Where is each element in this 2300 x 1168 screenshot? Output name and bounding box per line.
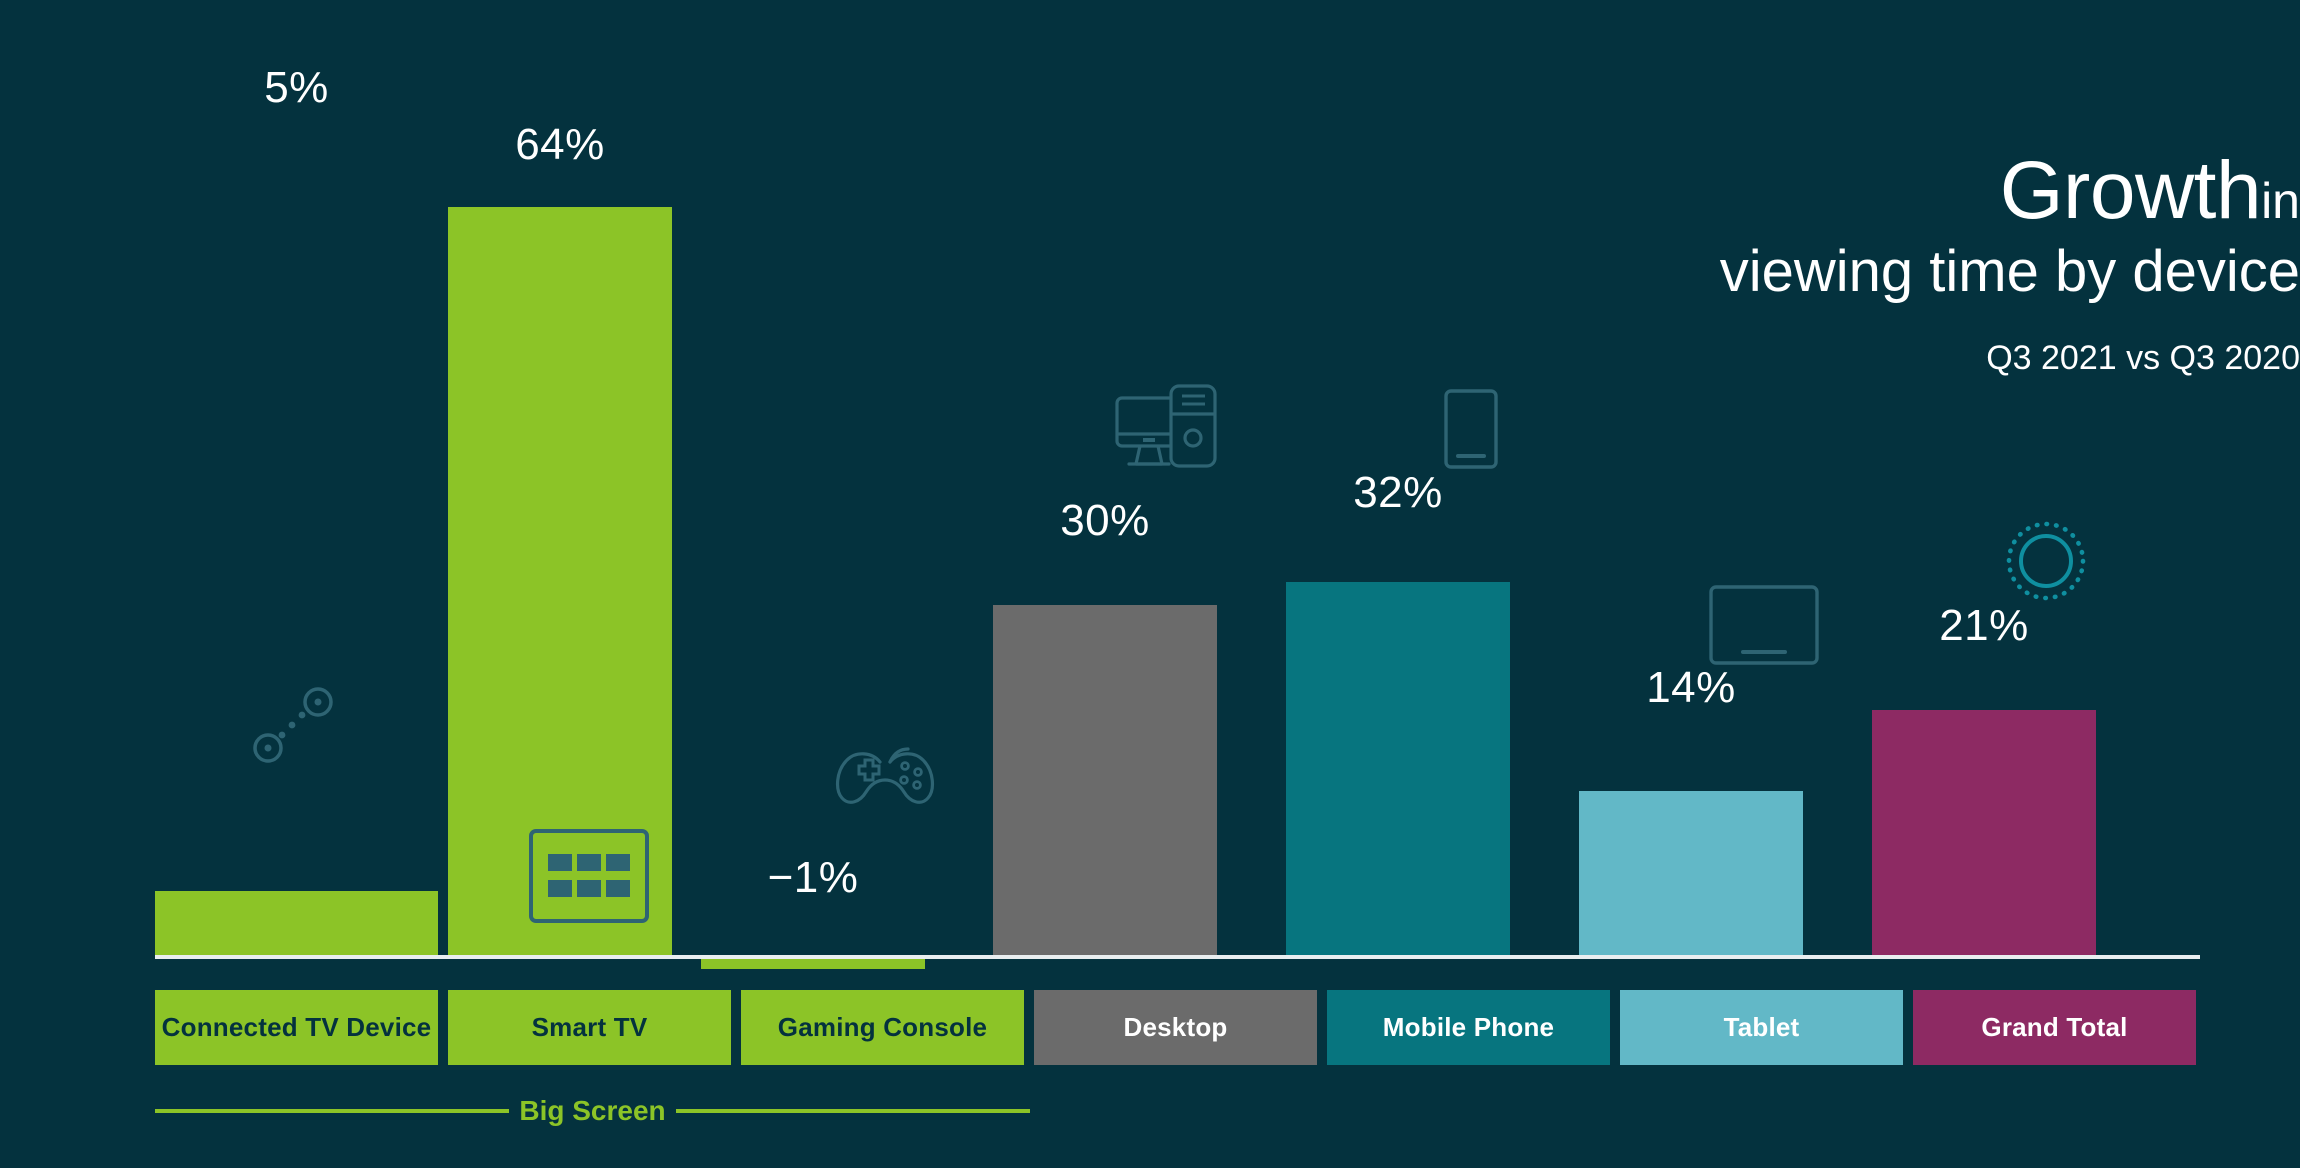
bar-value-label: 21% [1872, 601, 2096, 651]
big-screen-bracket: Big Screen [155, 1095, 1030, 1127]
bar-column-gaming-console: −1% [701, 60, 925, 955]
category-label-text: Gaming Console [778, 1013, 987, 1043]
category-label-gaming-console[interactable]: Gaming Console [741, 990, 1024, 1065]
bar-mobile-phone[interactable] [1286, 582, 1510, 955]
title-main-suffix: in [2261, 173, 2300, 229]
chart-canvas: Growthin viewing time by device Q3 2021 … [0, 0, 2300, 1168]
category-label-connected-tv-device[interactable]: Connected TV Device [155, 990, 438, 1065]
plot-area: 5% 64% −1% 30% 32% 14% 21% [155, 60, 2200, 955]
category-label-text: Connected TV Device [162, 1013, 432, 1043]
bar-column-smart-tv: 64% [448, 60, 672, 955]
bar-column-grand-total: 21% [1872, 60, 2096, 955]
bar-tablet[interactable] [1579, 791, 1803, 955]
bar-value-label: 32% [1286, 468, 1510, 518]
bar-value-label: −1% [701, 853, 925, 903]
category-label-smart-tv[interactable]: Smart TV [448, 990, 731, 1065]
category-label-grand-total[interactable]: Grand Total [1913, 990, 2196, 1065]
bar-value-label: 30% [993, 496, 1217, 546]
category-label-text: Tablet [1724, 1013, 1800, 1043]
bracket-rule-left [155, 1109, 509, 1113]
category-label-tablet[interactable]: Tablet [1620, 990, 1903, 1065]
bar-value-label: 14% [1579, 663, 1803, 713]
bar-column-mobile-phone: 32% [1286, 60, 1510, 955]
category-label-text: Mobile Phone [1383, 1013, 1554, 1043]
bar-value-label: 64% [448, 120, 672, 170]
category-label-text: Grand Total [1981, 1013, 2127, 1043]
bar-column-connected-tv-device: 5% [155, 60, 438, 955]
bar-column-tablet: 14% [1579, 60, 1803, 955]
category-label-mobile-phone[interactable]: Mobile Phone [1327, 990, 1610, 1065]
bar-value-label: 5% [155, 63, 438, 113]
bar-connected-tv-device[interactable] [155, 891, 438, 955]
bar-column-desktop: 30% [993, 60, 1217, 955]
bracket-rule-right [676, 1109, 1030, 1113]
category-label-desktop[interactable]: Desktop [1034, 990, 1317, 1065]
big-screen-label: Big Screen [509, 1095, 675, 1127]
bar-grand-total[interactable] [1872, 710, 2096, 955]
bar-desktop[interactable] [993, 605, 1217, 955]
bar-smart-tv[interactable] [448, 207, 672, 955]
zero-baseline [155, 955, 2200, 959]
category-label-text: Smart TV [532, 1013, 648, 1043]
category-label-text: Desktop [1124, 1013, 1228, 1043]
category-label-row: Connected TV Device Smart TV Gaming Cons… [155, 990, 2200, 1065]
